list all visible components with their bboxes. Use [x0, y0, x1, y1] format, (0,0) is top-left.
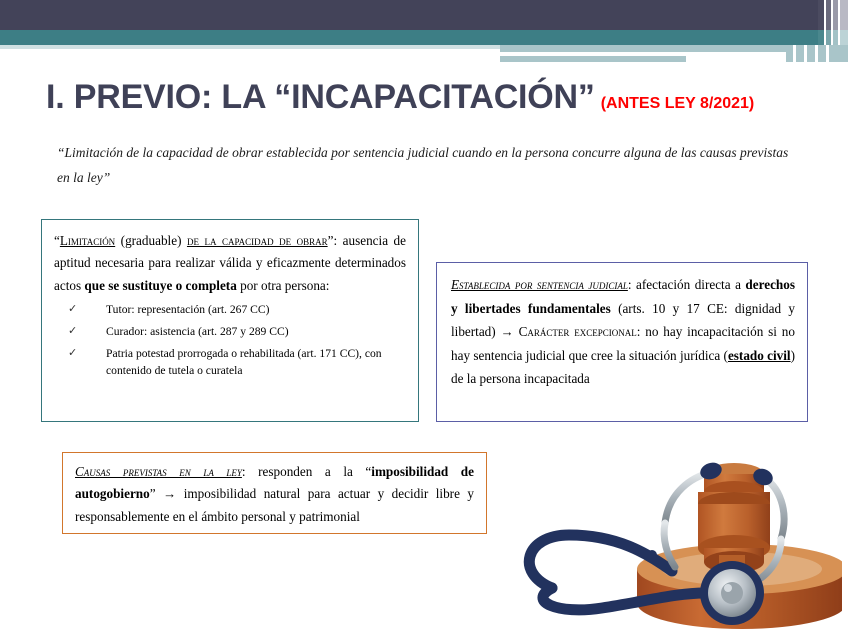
box-establecida-t4: Carácter excepcional [519, 324, 637, 339]
banner-white-stripe-2 [804, 45, 807, 62]
gavel-stethoscope-illustration [497, 443, 842, 636]
box-establecida-t6: estado civil [728, 348, 791, 363]
list-item: ✓ Tutor: representación (art. 267 CC) [68, 301, 406, 319]
banner-dark-stripe-2 [826, 0, 831, 30]
banner-teal-stripe-4 [840, 30, 848, 45]
banner-teal-stripe-1 [818, 30, 824, 45]
banner-dark-bar [0, 0, 818, 30]
banner-pale-bar-lower [500, 56, 686, 62]
banner-teal-stripe-2 [826, 30, 831, 45]
check-icon: ✓ [68, 323, 77, 340]
box-causas: Causas previstas en la ley: responden a … [62, 452, 487, 534]
box-causas-t1: : responden a la “ [242, 464, 371, 479]
check-icon: ✓ [68, 301, 77, 318]
banner-teal-stripe-3 [833, 30, 838, 45]
banner-dark-stripe-3 [833, 0, 838, 30]
box-establecida-paragraph: Establecida por sentencia judicial: afec… [451, 273, 795, 391]
lead-quote: “Limitación de la capacidad de obrar est… [57, 141, 802, 191]
box-limitacion-body-2: por otra persona: [237, 278, 330, 293]
list-item-label: Curador: asistencia (art. 287 y 289 CC) [106, 325, 289, 338]
quote-close: ”: [328, 233, 338, 248]
banner-white-stripe-1 [793, 45, 796, 62]
box-causas-heading: Causas previstas en la ley [75, 464, 242, 479]
box-causas-paragraph: Causas previstas en la ley: responden a … [75, 461, 474, 528]
box-limitacion-body-bold: que se sustituye o completa [84, 278, 236, 293]
list-item-label: Tutor: representación (art. 267 CC) [106, 303, 269, 316]
header-banner [0, 0, 848, 62]
list-item: ✓ Curador: asistencia (art. 287 y 289 CC… [68, 323, 406, 341]
box-limitacion-paragraph: “Limitación (graduable) de la capacidad … [54, 230, 406, 297]
box-establecida-t1: : afectación directa a [628, 277, 746, 292]
banner-teal-bar [0, 30, 818, 45]
title-main-text: I. PREVIO: LA “INCAPACITACIÓN” [46, 78, 595, 116]
box-establecida: Establecida por sentencia judicial: afec… [436, 262, 808, 422]
box-limitacion: “Limitación (graduable) de la capacidad … [41, 219, 419, 422]
banner-dark-stripe-1 [818, 0, 824, 30]
banner-white-stripe-3 [815, 45, 818, 62]
banner-white-gap [0, 49, 500, 53]
slide: I. PREVIO: LA “INCAPACITACIÓN”(ANTES LEY… [0, 0, 848, 636]
box-limitacion-term2: de la capacidad de obrar [187, 233, 328, 248]
banner-white-stripe-4 [826, 45, 829, 62]
box-limitacion-term: Limitación [60, 233, 115, 248]
box-limitacion-bullet-list: ✓ Tutor: representación (art. 267 CC) ✓ … [54, 301, 406, 379]
check-icon: ✓ [68, 345, 77, 362]
list-item-label: Patria potestad prorrogada o rehabilitad… [106, 347, 382, 378]
banner-dark-stripe-4 [840, 0, 848, 30]
box-establecida-heading: Establecida por sentencia judicial [451, 277, 628, 292]
list-item: ✓ Patria potestad prorrogada o rehabilit… [68, 345, 406, 380]
box-limitacion-paren: (graduable) [115, 233, 187, 248]
title-subtitle-annotation: (ANTES LEY 8/2021) [601, 95, 755, 112]
page-title: I. PREVIO: LA “INCAPACITACIÓN”(ANTES LEY… [46, 78, 836, 117]
gavel-and-stethoscope-photo [497, 443, 842, 636]
